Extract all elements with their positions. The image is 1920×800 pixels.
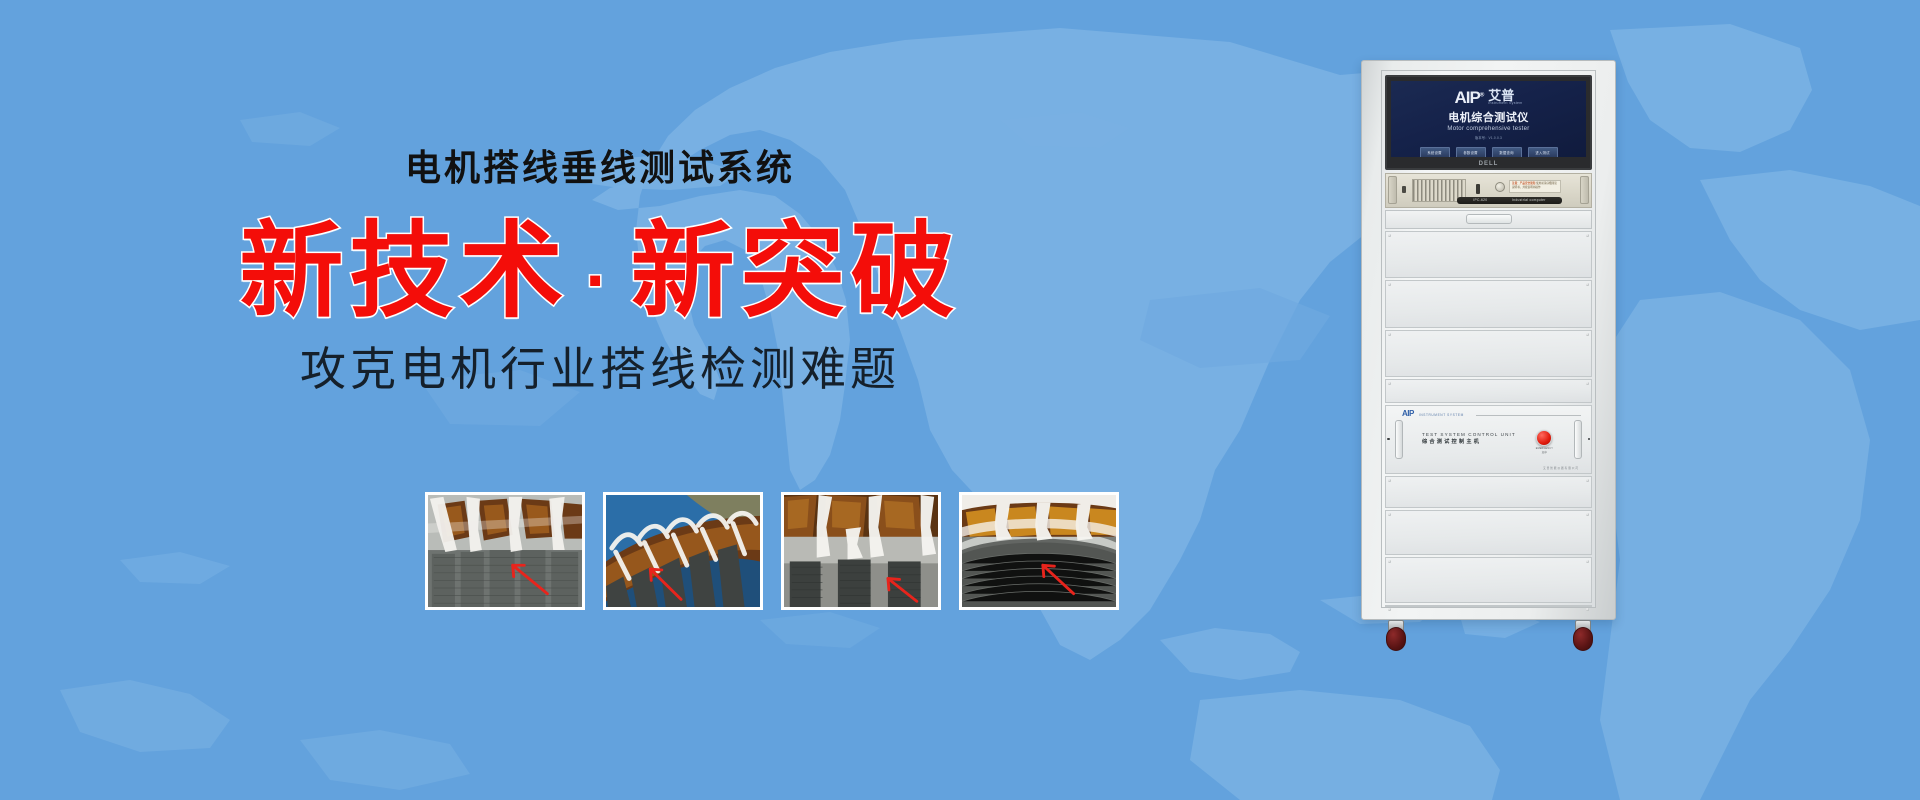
stator-winding-photo-4[interactable] bbox=[959, 492, 1119, 610]
control-unit-brand: AIP INSTRUMENT SYSTEM bbox=[1402, 409, 1464, 418]
industrial-computer-unit: 注意：产品安全须知 使用前请仔细阅读说明书，并按说明书操作 IPC-620 In… bbox=[1385, 173, 1592, 208]
ipc-model-tag: IPC-620 Industrial computer bbox=[1457, 197, 1562, 204]
control-unit-handle-left[interactable] bbox=[1395, 420, 1403, 459]
screen-button-query[interactable]: 数据查询 bbox=[1492, 147, 1522, 157]
caster-wheel-left bbox=[1385, 620, 1405, 654]
warning-label: 注意：产品安全须知 使用前请仔细阅读说明书，并按说明书操作 bbox=[1509, 180, 1561, 193]
blank-panel-8 bbox=[1385, 605, 1592, 607]
headline-part-right: 新突破 bbox=[631, 214, 961, 330]
drawer-handle-icon[interactable] bbox=[1466, 214, 1512, 224]
caster-wheel-right-icon bbox=[1573, 627, 1593, 651]
eyebrow-text: 电机搭线垂线测试系统 bbox=[405, 150, 795, 186]
control-unit-brand-sub: INSTRUMENT SYSTEM bbox=[1419, 413, 1464, 417]
thumbnail-strip bbox=[425, 492, 1119, 610]
headline-separator: · bbox=[569, 241, 630, 319]
ipc-label-text: Industrial computer bbox=[1512, 198, 1546, 202]
rack-screw-right-icon bbox=[1588, 438, 1591, 441]
control-unit-title-cn: 综合测试控制主机 bbox=[1422, 439, 1516, 447]
monitor-bezel: AIP® 艾普 Instrument System 电机综合测试仪 Motor … bbox=[1385, 75, 1592, 170]
blank-panel-2 bbox=[1385, 280, 1592, 328]
emergency-stop[interactable]: EMERGENCY 急停 bbox=[1536, 430, 1553, 454]
screen-version-note: 版本号：V1.0.0.3 bbox=[1475, 135, 1502, 140]
test-system-cabinet: AIP® 艾普 Instrument System 电机综合测试仪 Motor … bbox=[1361, 60, 1616, 620]
emergency-stop-label-cn: 急停 bbox=[1536, 450, 1553, 454]
screen-title-cn: 电机综合测试仪 bbox=[1448, 109, 1529, 125]
ipc-handle-left[interactable] bbox=[1388, 176, 1397, 204]
screen-button-settings[interactable]: 系统设置 bbox=[1420, 147, 1450, 157]
control-unit-brand-logo: AIP bbox=[1402, 409, 1414, 418]
ipc-model-text: IPC-620 bbox=[1473, 198, 1487, 202]
page-title: 新技术·新突破 bbox=[239, 220, 960, 324]
screen-brand-row: AIP® 艾普 Instrument System bbox=[1454, 89, 1522, 106]
power-switch-icon[interactable] bbox=[1402, 186, 1406, 193]
emergency-stop-button-icon[interactable] bbox=[1536, 430, 1552, 446]
blank-panel-6 bbox=[1385, 510, 1592, 556]
control-unit-footer: 艾普智能仪器有限公司 bbox=[1543, 466, 1579, 470]
reset-dial-icon[interactable] bbox=[1495, 182, 1505, 192]
trademark-icon: ® bbox=[1480, 92, 1483, 98]
caster-wheel-left-icon bbox=[1386, 627, 1406, 651]
headline-block: 电机搭线垂线测试系统 新技术·新突破 攻克电机行业搭线检测难题 bbox=[0, 0, 1200, 800]
stator-winding-photo-3[interactable] bbox=[781, 492, 941, 610]
screen-title-en: Motor comprehensive tester bbox=[1447, 126, 1529, 132]
blank-panel-7 bbox=[1385, 557, 1592, 603]
monitor-screen[interactable]: AIP® 艾普 Instrument System 电机综合测试仪 Motor … bbox=[1391, 81, 1586, 157]
blank-panel-1 bbox=[1385, 231, 1592, 279]
usb-port-icon[interactable] bbox=[1476, 184, 1480, 194]
test-system-control-unit: AIP INSTRUMENT SYSTEM TEST SYSTEM CONTRO… bbox=[1385, 405, 1592, 474]
warning-label-title: 注意：产品安全须知 bbox=[1512, 182, 1535, 185]
emergency-stop-label: EMERGENCY 急停 bbox=[1536, 447, 1553, 454]
aip-brand-cn: 艾普 Instrument System bbox=[1488, 89, 1522, 106]
control-unit-rule bbox=[1476, 415, 1581, 416]
cabinet-casters bbox=[1361, 620, 1616, 660]
subtitle-text: 攻克电机行业搭线检测难题 bbox=[300, 346, 900, 392]
rack-screw-left-icon bbox=[1387, 438, 1390, 441]
screen-button-parameters[interactable]: 参数设置 bbox=[1456, 147, 1486, 157]
caster-wheel-right bbox=[1572, 620, 1592, 654]
aip-logo: AIP® bbox=[1454, 89, 1483, 106]
control-unit-handle-right[interactable] bbox=[1574, 420, 1582, 459]
keyboard-drawer[interactable] bbox=[1385, 210, 1592, 229]
control-unit-title-block: TEST SYSTEM CONTROL UNIT 综合测试控制主机 bbox=[1422, 432, 1516, 447]
blank-panel-3 bbox=[1385, 330, 1592, 378]
screen-button-row: 系统设置 参数设置 数据查询 进入测试 bbox=[1420, 147, 1558, 157]
stator-winding-photo-1[interactable] bbox=[425, 492, 585, 610]
aip-brand-cn-sub: Instrument System bbox=[1488, 102, 1522, 106]
stator-winding-photo-2[interactable] bbox=[603, 492, 763, 610]
promo-banner: 电机搭线垂线测试系统 新技术·新突破 攻克电机行业搭线检测难题 bbox=[0, 0, 1920, 800]
blank-panel-5 bbox=[1385, 476, 1592, 508]
aip-logo-text: AIP bbox=[1454, 88, 1479, 107]
screen-button-start-test[interactable]: 进入测试 bbox=[1528, 147, 1558, 157]
blank-panel-4 bbox=[1385, 379, 1592, 403]
control-unit-title-en: TEST SYSTEM CONTROL UNIT bbox=[1422, 432, 1516, 439]
cabinet-inner-panel: AIP® 艾普 Instrument System 电机综合测试仪 Motor … bbox=[1381, 70, 1596, 608]
ipc-face: 注意：产品安全须知 使用前请仔细阅读说明书，并按说明书操作 IPC-620 In… bbox=[1399, 174, 1578, 207]
headline-part-left: 新技术 bbox=[239, 214, 569, 330]
monitor-brand-label: DELL bbox=[1387, 161, 1590, 167]
ipc-handle-right[interactable] bbox=[1580, 176, 1589, 204]
